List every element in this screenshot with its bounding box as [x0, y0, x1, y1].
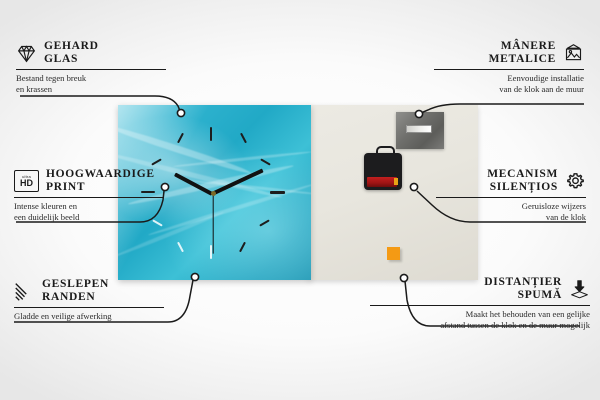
callout-desc-line1: Intense kleuren en — [14, 201, 224, 212]
callout-desc-line2: van de klok aan de muur — [374, 84, 584, 95]
hour-tick — [239, 242, 246, 253]
callout-title: GESLEPEN RANDEN — [42, 278, 109, 304]
hour-tick — [240, 133, 247, 144]
callout-title: HOOGWAARDIGE PRINT — [46, 168, 155, 194]
bevelled-edge-icon — [14, 281, 35, 302]
callout-rule — [370, 305, 590, 306]
callout-rule — [436, 197, 586, 198]
callout-gehard-glas: GEHARD GLAS Bestand tegen breuk en krass… — [16, 40, 226, 94]
wall-hanging-frame-icon — [563, 43, 584, 64]
hour-tick — [177, 133, 184, 144]
callout-rule — [16, 69, 166, 70]
callout-desc-line1: Bestand tegen breuk — [16, 73, 226, 84]
callout-desc-line1: Gladde en veilige afwerking — [14, 311, 224, 322]
gear-icon — [565, 171, 586, 192]
callout-rule — [14, 307, 164, 308]
callout-mecanism-silentios: MECANISM SILENȚIOS Geruisloze wijzers va… — [376, 168, 586, 222]
diamond-icon — [16, 43, 37, 64]
callout-desc-line2: en krassen — [16, 84, 226, 95]
callout-header: MECANISM SILENȚIOS — [376, 168, 586, 194]
callout-title: GEHARD GLAS — [44, 40, 99, 66]
hour-tick — [270, 191, 285, 194]
callout-title: DISTANȚIER SPUMĂ — [484, 276, 562, 302]
infographic-canvas: GEHARD GLAS Bestand tegen breuk en krass… — [0, 0, 600, 400]
callout-distantier-spuma: DISTANȚIER SPUMĂ Maakt het behouden van … — [370, 276, 590, 330]
callout-desc-line1: Geruisloze wijzers — [376, 201, 586, 212]
callout-header: MÂNERE METALICE — [374, 40, 584, 66]
callout-title: MÂNERE METALICE — [489, 40, 556, 66]
callout-manere-metalice: MÂNERE METALICE Eenvoudige installatie v… — [374, 40, 584, 94]
callout-header: DISTANȚIER SPUMĂ — [370, 276, 590, 302]
hour-tick — [260, 158, 271, 165]
callout-header: GEHARD GLAS — [16, 40, 226, 66]
foam-spacer-part — [387, 247, 400, 260]
callout-geslepen-randen: GESLEPEN RANDEN Gladde en veilige afwerk… — [14, 278, 224, 322]
callout-header: GESLEPEN RANDEN — [14, 278, 224, 304]
metal-hanger-part — [396, 112, 444, 149]
callout-desc-line1: Maakt het behouden van een gelijke — [370, 309, 590, 320]
callout-desc-line2: van de klok — [376, 212, 586, 223]
callout-desc-line1: Eenvoudige installatie — [374, 73, 584, 84]
callout-rule — [14, 197, 164, 198]
mechanism-loop — [376, 146, 395, 158]
ultra-hd-icon: ultra HD — [14, 170, 39, 192]
hour-tick — [259, 219, 270, 226]
foam-spacer-arrow-icon — [569, 279, 590, 300]
hour-tick — [177, 242, 184, 253]
callout-hoogwaardige-print: ultra HD HOOGWAARDIGE PRINT Intense kleu… — [14, 168, 224, 222]
callout-desc-line2: afstand tussen de klok en de muur mogeli… — [370, 320, 590, 331]
callout-header: ultra HD HOOGWAARDIGE PRINT — [14, 168, 224, 194]
callout-desc-line2: een duidelijk beeld — [14, 212, 224, 223]
hour-tick — [210, 127, 212, 141]
hanger-slot — [406, 125, 432, 133]
callout-rule — [434, 69, 584, 70]
callout-title: MECANISM SILENȚIOS — [487, 168, 558, 194]
